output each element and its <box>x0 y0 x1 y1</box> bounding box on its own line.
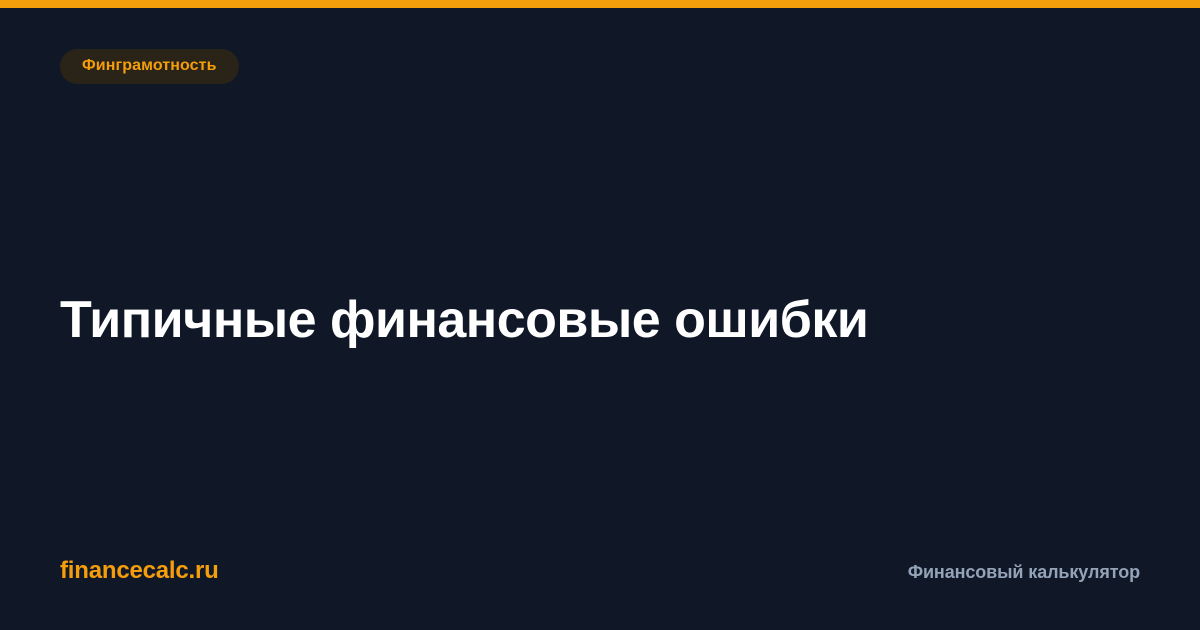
card-content: Финграмотность Типичные финансовые ошибк… <box>0 8 1200 630</box>
card-footer: financecalc.ru Финансовый калькулятор <box>60 557 1140 585</box>
site-tagline: Финансовый калькулятор <box>908 562 1140 583</box>
title-block: Типичные финансовые ошибки <box>60 84 1140 557</box>
page-title: Типичные финансовые ошибки <box>60 290 868 351</box>
og-preview-card: Финграмотность Типичные финансовые ошибк… <box>0 0 1200 630</box>
top-accent-bar <box>0 0 1200 8</box>
category-badge[interactable]: Финграмотность <box>60 49 239 84</box>
site-domain-link[interactable]: financecalc.ru <box>60 557 219 585</box>
badge-row: Финграмотность <box>60 49 1140 84</box>
